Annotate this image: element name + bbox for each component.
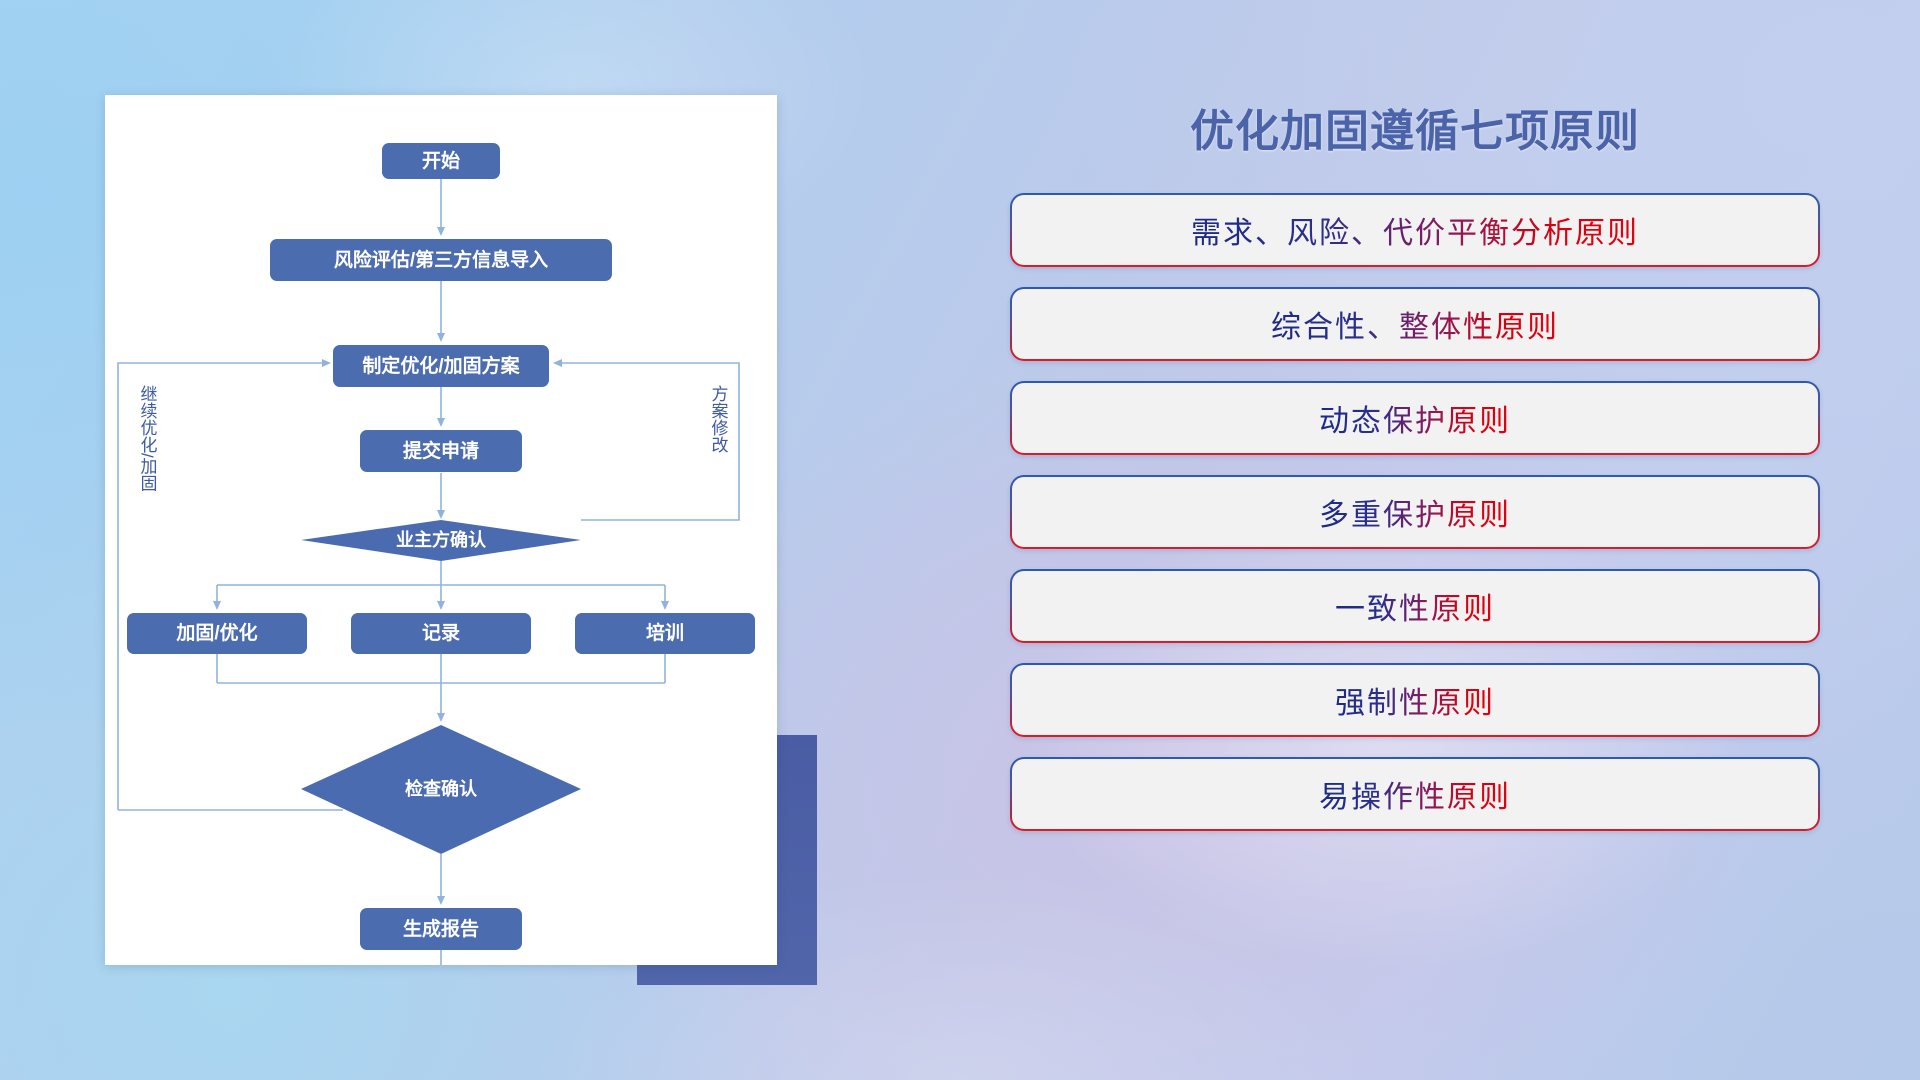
flow-node-label: 加固/优化 (175, 621, 257, 644)
principle-label: 综合性、整体性原则 (1271, 302, 1559, 346)
list-item[interactable]: 多重保护原则 (1010, 475, 1820, 549)
flow-node-label: 制定优化/加固方案 (362, 354, 520, 377)
flow-node-record: 记录 (351, 613, 531, 654)
principle-label: 易操作性原则 (1319, 772, 1511, 816)
edge-label-continue-optimize: 继续优化/加固 (138, 385, 158, 492)
flow-node-start: 开始 (382, 143, 500, 179)
principle-label: 动态保护原则 (1319, 396, 1511, 440)
list-item-inner: 一致性原则 (1012, 571, 1818, 641)
flow-node-label: 风险评估/第三方信息导入 (334, 248, 548, 271)
list-item-inner: 动态保护原则 (1012, 383, 1818, 453)
list-item[interactable]: 综合性、整体性原则 (1010, 287, 1820, 361)
flow-node-label: 开始 (422, 149, 460, 172)
list-item-inner: 易操作性原则 (1012, 759, 1818, 829)
flowchart-card: 开始 风险评估/第三方信息导入 制定优化/加固方案 提交申请 业主方确认 加固/… (105, 95, 777, 965)
flowchart-svg: 开始 风险评估/第三方信息导入 制定优化/加固方案 提交申请 业主方确认 加固/… (105, 95, 777, 965)
list-item[interactable]: 易操作性原则 (1010, 757, 1820, 831)
principle-label: 需求、风险、代价平衡分析原则 (1191, 208, 1639, 252)
flow-node-label: 生成报告 (403, 917, 479, 940)
list-item[interactable]: 强制性原则 (1010, 663, 1820, 737)
flow-node-generate-report: 生成报告 (360, 908, 522, 950)
list-item-inner: 需求、风险、代价平衡分析原则 (1012, 195, 1818, 265)
flow-node-risk-assessment: 风险评估/第三方信息导入 (270, 239, 612, 281)
flow-node-label: 记录 (422, 622, 460, 644)
list-item-inner: 综合性、整体性原则 (1012, 289, 1818, 359)
flow-node-check-confirm: 检查确认 (301, 725, 581, 854)
list-item[interactable]: 动态保护原则 (1010, 381, 1820, 455)
flow-node-label: 提交申请 (403, 439, 479, 462)
flow-node-owner-confirm: 业主方确认 (301, 520, 581, 561)
list-item[interactable]: 需求、风险、代价平衡分析原则 (1010, 193, 1820, 267)
list-item-inner: 强制性原则 (1012, 665, 1818, 735)
principle-label: 强制性原则 (1335, 678, 1495, 722)
flow-node-label: 培训 (646, 621, 684, 644)
flow-node-training: 培训 (575, 613, 755, 654)
page-title: 优化加固遵循七项原则 (1010, 95, 1820, 159)
flow-node-plan: 制定优化/加固方案 (333, 345, 549, 387)
principle-label: 多重保护原则 (1319, 490, 1511, 534)
list-item-inner: 多重保护原则 (1012, 477, 1818, 547)
flow-node-reinforce: 加固/优化 (127, 613, 307, 654)
flow-node-label: 业主方确认 (396, 529, 487, 550)
principle-list: 需求、风险、代价平衡分析原则 综合性、整体性原则 动态保护原则 多重保护原则 一… (1010, 193, 1820, 831)
flow-node-label: 检查确认 (405, 778, 478, 799)
edge-label-plan-revision: 方案修改 (709, 385, 729, 453)
principle-label: 一致性原则 (1335, 584, 1495, 628)
principles-panel: 优化加固遵循七项原则 需求、风险、代价平衡分析原则 综合性、整体性原则 动态保护… (1010, 95, 1820, 995)
list-item[interactable]: 一致性原则 (1010, 569, 1820, 643)
flow-node-submit: 提交申请 (360, 430, 522, 472)
